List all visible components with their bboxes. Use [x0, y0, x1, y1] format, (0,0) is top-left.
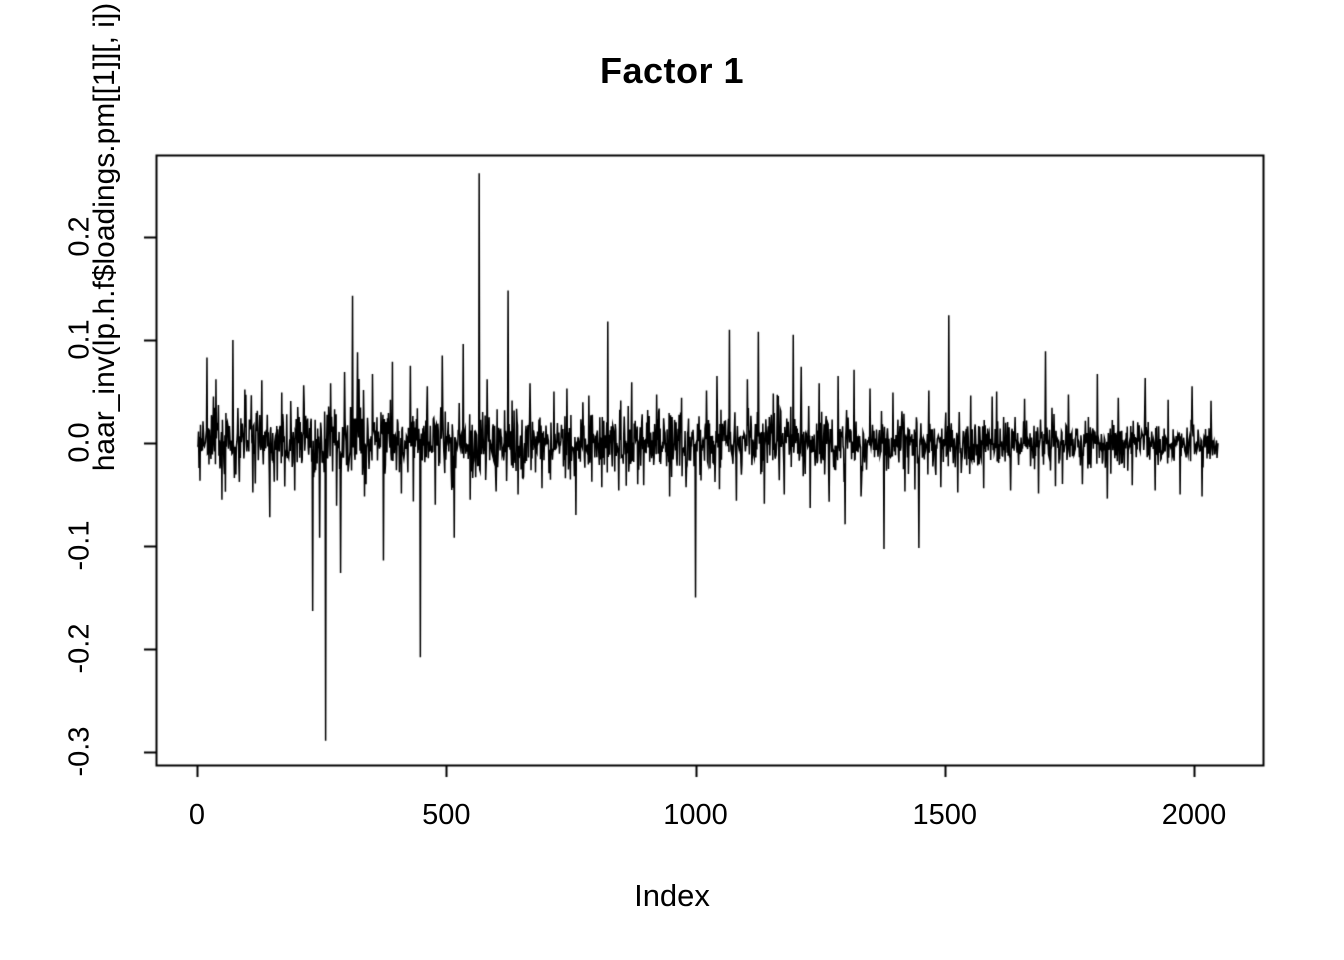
x-tick-label: 2000 [1114, 799, 1274, 832]
x-tick-label: 500 [366, 799, 526, 832]
y-tick-label: -0.1 [64, 496, 97, 596]
y-tick-label: -0.3 [64, 702, 97, 802]
plot-figure: Factor 1 haar_inv(lp.h.f$loadings.pm[[1]… [0, 0, 1344, 960]
x-tick-label: 0 [117, 799, 277, 832]
x-tick-label: 1000 [616, 799, 776, 832]
y-tick-label: 0.2 [64, 187, 97, 287]
x-axis-label: Index [0, 878, 1344, 914]
y-tick-label: 0.0 [64, 393, 97, 493]
y-tick-label: -0.2 [64, 599, 97, 699]
y-tick-label: 0.1 [64, 290, 97, 390]
x-tick-label: 1500 [865, 799, 1025, 832]
